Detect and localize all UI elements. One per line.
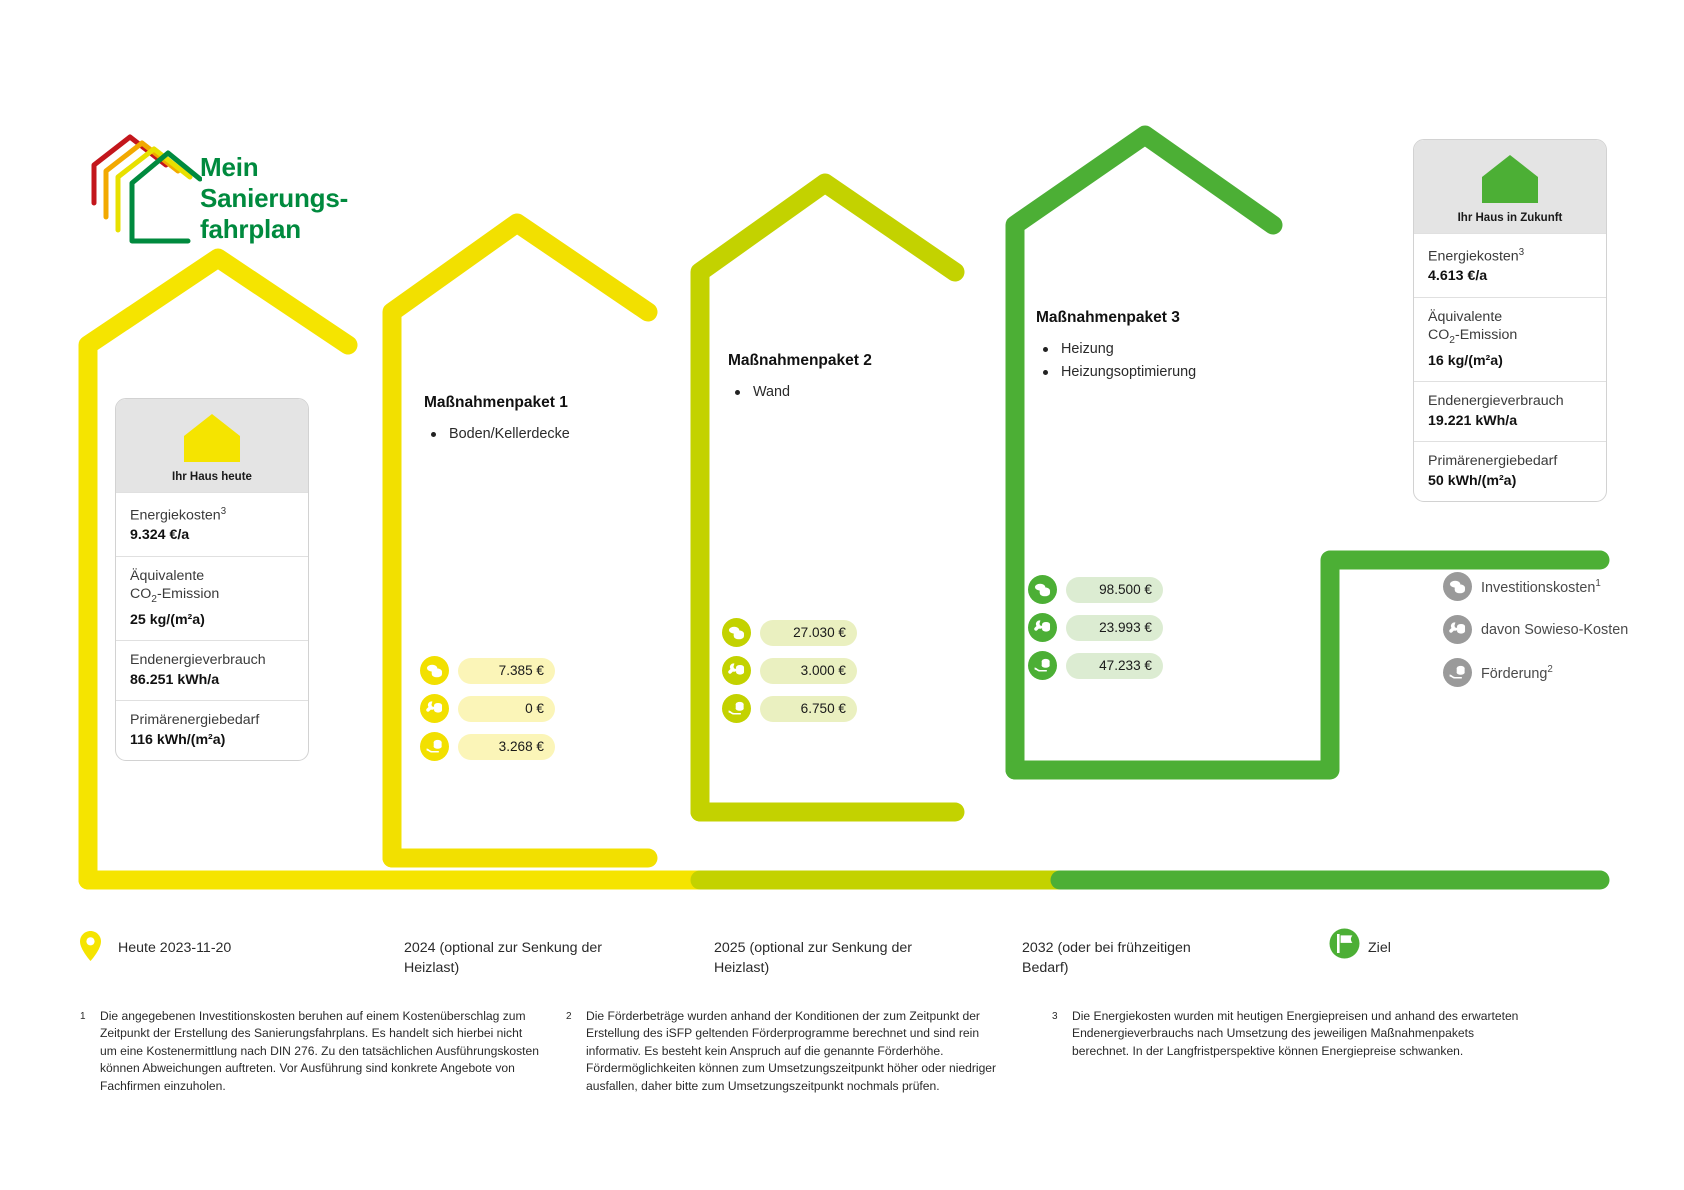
hand-coins-icon bbox=[722, 694, 751, 723]
footnote-text: Die Förderbeträge wurden anhand der Kond… bbox=[586, 1009, 996, 1093]
legend-item-foerderung: Förderung2 bbox=[1443, 658, 1628, 687]
logo-houses-icon bbox=[82, 125, 202, 245]
measure-item: Boden/Kellerdecke bbox=[424, 423, 724, 446]
cost-chip-investitionskosten: 98.500 € bbox=[1028, 575, 1163, 604]
cost-chip-sowieso-kosten: 23.993 € bbox=[1028, 613, 1163, 642]
package-title: Maßnahmenpaket 3 bbox=[1036, 309, 1336, 327]
card-row-primaerenergie: Primärenergiebedarf 50 kWh/(m²a) bbox=[1414, 441, 1606, 501]
house-icon bbox=[182, 412, 242, 464]
value-endenergie: 19.221 kWh/a bbox=[1428, 412, 1592, 431]
package-title: Maßnahmenpaket 1 bbox=[424, 394, 724, 412]
footnote-1: 1 Die angegebenen Investitionskosten ber… bbox=[100, 1008, 540, 1095]
footnote-text: Die Energiekosten wurden mit heutigen En… bbox=[1072, 1009, 1518, 1058]
cost-value: 47.233 € bbox=[1066, 653, 1163, 679]
legend-label: Investitionskosten1 bbox=[1481, 578, 1601, 596]
label-endenergie: Endenergieverbrauch bbox=[1428, 392, 1592, 411]
hand-coins-icon bbox=[1443, 658, 1472, 687]
package-title: Maßnahmenpaket 2 bbox=[728, 352, 1028, 370]
cost-value: 0 € bbox=[458, 696, 555, 722]
hand-coins-icon bbox=[1028, 651, 1057, 680]
cost-chips-package-1: 7.385 € 0 € 3.268 € bbox=[420, 656, 555, 770]
logo-text: Mein Sanierungs- fahrplan bbox=[200, 152, 348, 245]
cost-value: 27.030 € bbox=[760, 620, 857, 646]
legend-label: Förderung2 bbox=[1481, 664, 1553, 682]
legend-item-sowieso-kosten: davon Sowieso-Kosten bbox=[1443, 615, 1628, 644]
cost-chip-sowieso-kosten: 3.000 € bbox=[722, 656, 857, 685]
card-row-energiekosten: Energiekosten3 4.613 €/a bbox=[1414, 233, 1606, 297]
cost-value: 23.993 € bbox=[1066, 615, 1163, 641]
legend-label: davon Sowieso-Kosten bbox=[1481, 622, 1628, 638]
coins-icon bbox=[722, 618, 751, 647]
cost-value: 6.750 € bbox=[760, 696, 857, 722]
label-endenergie: Endenergieverbrauch bbox=[130, 651, 294, 670]
cost-chips-package-2: 27.030 € 3.000 € 6.750 € bbox=[722, 618, 857, 732]
timeline-label-goal: Ziel bbox=[1368, 938, 1518, 958]
hand-coins-icon bbox=[420, 732, 449, 761]
card-row-energiekosten: Energiekosten3 9.324 €/a bbox=[116, 492, 308, 556]
card-row-endenergie: Endenergieverbrauch 86.251 kWh/a bbox=[116, 640, 308, 700]
label-primaerenergie: Primärenergiebedarf bbox=[1428, 452, 1592, 471]
house-icon bbox=[1480, 153, 1540, 205]
card-header-today: Ihr Haus heute bbox=[116, 399, 308, 492]
card-row-co2: ÄquivalenteCO2-Emission 25 kg/(m²a) bbox=[116, 556, 308, 640]
value-co2: 25 kg/(m²a) bbox=[130, 611, 294, 630]
legend-item-investitionskosten: Investitionskosten1 bbox=[1443, 572, 1628, 601]
wrench-coins-icon bbox=[722, 656, 751, 685]
cost-value: 7.385 € bbox=[458, 658, 555, 684]
cost-chip-investitionskosten: 7.385 € bbox=[420, 656, 555, 685]
pin-icon bbox=[78, 930, 103, 967]
package-2: Maßnahmenpaket 2 Wand bbox=[728, 352, 1028, 404]
package-measure-list: Boden/Kellerdecke bbox=[424, 423, 724, 446]
logo: Mein Sanierungs- fahrplan bbox=[82, 125, 412, 255]
footnote-text: Die angegebenen Investitionskosten beruh… bbox=[100, 1009, 539, 1093]
value-primaerenergie: 50 kWh/(m²a) bbox=[1428, 472, 1592, 491]
coins-icon bbox=[420, 656, 449, 685]
cost-chip-sowieso-kosten: 0 € bbox=[420, 694, 555, 723]
card-title: Ihr Haus heute bbox=[116, 471, 308, 483]
value-energiekosten: 9.324 €/a bbox=[130, 526, 294, 545]
value-energiekosten: 4.613 €/a bbox=[1428, 267, 1592, 286]
package-1: Maßnahmenpaket 1 Boden/Kellerdecke bbox=[424, 394, 724, 446]
card-title: Ihr Haus in Zukunft bbox=[1414, 212, 1606, 224]
measure-item: Wand bbox=[728, 381, 1028, 404]
package-3: Maßnahmenpaket 3 Heizung Heizungsoptimie… bbox=[1036, 309, 1336, 384]
measure-item: Heizung bbox=[1036, 338, 1336, 361]
coins-icon bbox=[1028, 575, 1057, 604]
timeline-label-2032: 2032 (oder bei frühzeitigen Bedarf) bbox=[1022, 938, 1237, 978]
timeline-label-2025: 2025 (optional zur Senkung der Heizlast) bbox=[714, 938, 924, 978]
value-endenergie: 86.251 kWh/a bbox=[130, 671, 294, 690]
cost-legend: Investitionskosten1 davon Sowieso-Kosten… bbox=[1443, 572, 1628, 701]
package-measure-list: Wand bbox=[728, 381, 1028, 404]
info-card-today: Ihr Haus heute Energiekosten3 9.324 €/a … bbox=[115, 398, 309, 761]
cost-chip-foerderung: 47.233 € bbox=[1028, 651, 1163, 680]
measure-item: Heizungsoptimierung bbox=[1036, 361, 1336, 384]
cost-value: 3.000 € bbox=[760, 658, 857, 684]
value-primaerenergie: 116 kWh/(m²a) bbox=[130, 731, 294, 750]
footnote-3: 3 Die Energiekosten wurden mit heutigen … bbox=[1072, 1008, 1522, 1060]
footnote-number: 3 bbox=[1052, 1008, 1058, 1025]
wrench-coins-icon bbox=[1443, 615, 1472, 644]
cost-chip-foerderung: 3.268 € bbox=[420, 732, 555, 761]
card-row-co2: ÄquivalenteCO2-Emission 16 kg/(m²a) bbox=[1414, 297, 1606, 381]
footnote-2: 2 Die Förderbeträge wurden anhand der Ko… bbox=[586, 1008, 1026, 1095]
timeline-label-2024: 2024 (optional zur Senkung der Heizlast) bbox=[404, 938, 614, 978]
cost-chip-investitionskosten: 27.030 € bbox=[722, 618, 857, 647]
infographic-canvas: Mein Sanierungs- fahrplan Ihr Haus heute… bbox=[0, 0, 1684, 1190]
card-row-endenergie: Endenergieverbrauch 19.221 kWh/a bbox=[1414, 381, 1606, 441]
timeline-label-today: Heute 2023-11-20 bbox=[118, 938, 348, 958]
wrench-coins-icon bbox=[420, 694, 449, 723]
label-primaerenergie: Primärenergiebedarf bbox=[130, 711, 294, 730]
footnote-number: 2 bbox=[566, 1008, 572, 1025]
card-row-primaerenergie: Primärenergiebedarf 116 kWh/(m²a) bbox=[116, 700, 308, 760]
value-co2: 16 kg/(m²a) bbox=[1428, 352, 1592, 371]
info-card-future: Ihr Haus in Zukunft Energiekosten3 4.613… bbox=[1413, 139, 1607, 502]
cost-value: 3.268 € bbox=[458, 734, 555, 760]
footnote-number: 1 bbox=[80, 1008, 86, 1025]
card-header-future: Ihr Haus in Zukunft bbox=[1414, 140, 1606, 233]
flag-icon bbox=[1329, 928, 1360, 964]
coins-icon bbox=[1443, 572, 1472, 601]
cost-chip-foerderung: 6.750 € bbox=[722, 694, 857, 723]
package-measure-list: Heizung Heizungsoptimierung bbox=[1036, 338, 1336, 384]
cost-chips-package-3: 98.500 € 23.993 € 47.233 € bbox=[1028, 575, 1163, 689]
cost-value: 98.500 € bbox=[1066, 577, 1163, 603]
wrench-coins-icon bbox=[1028, 613, 1057, 642]
